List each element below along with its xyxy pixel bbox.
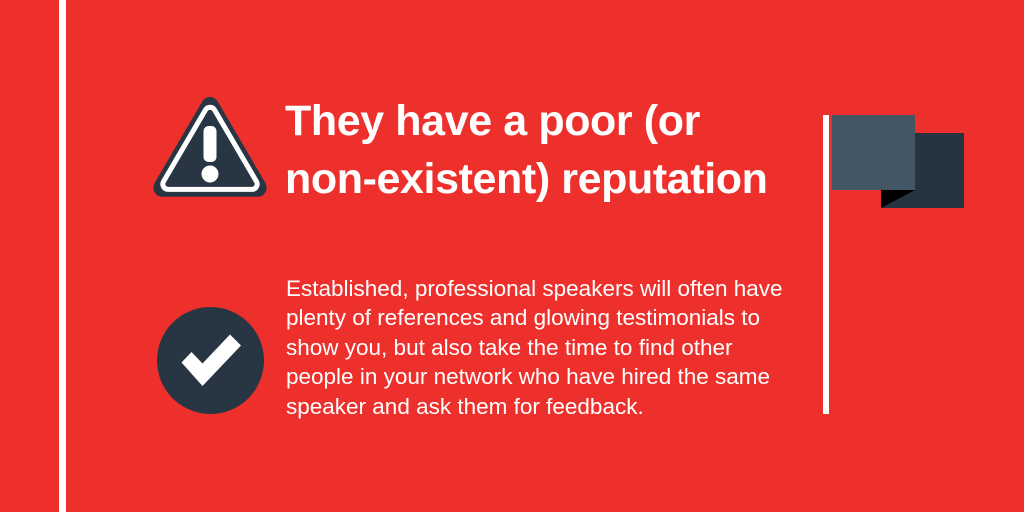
body-paragraph: Established, professional speakers will …: [286, 274, 796, 421]
flag-front-panel: [832, 115, 915, 190]
check-circle-icon: [157, 307, 264, 414]
body-line-2: plenty of references and glowing testimo…: [286, 303, 796, 332]
slide-canvas: They have a poor (or non-existent) reput…: [0, 0, 1024, 512]
body-line-4: people in your network who have hired th…: [286, 362, 796, 391]
body-line-3: show you, but also take the time to find…: [286, 333, 796, 362]
page-title: They have a poor (or non-existent) reput…: [285, 92, 825, 208]
headline-line-2: non-existent) reputation: [285, 150, 825, 208]
body-line-1: Established, professional speakers will …: [286, 274, 796, 303]
flag-icon: [820, 112, 970, 414]
warning-triangle-icon: [152, 96, 268, 200]
flag-pole: [823, 115, 829, 414]
body-line-5: speaker and ask them for feedback.: [286, 392, 796, 421]
flag-back-panel: [915, 133, 964, 208]
vertical-divider: [59, 0, 66, 512]
headline-line-1: They have a poor (or: [285, 92, 825, 150]
